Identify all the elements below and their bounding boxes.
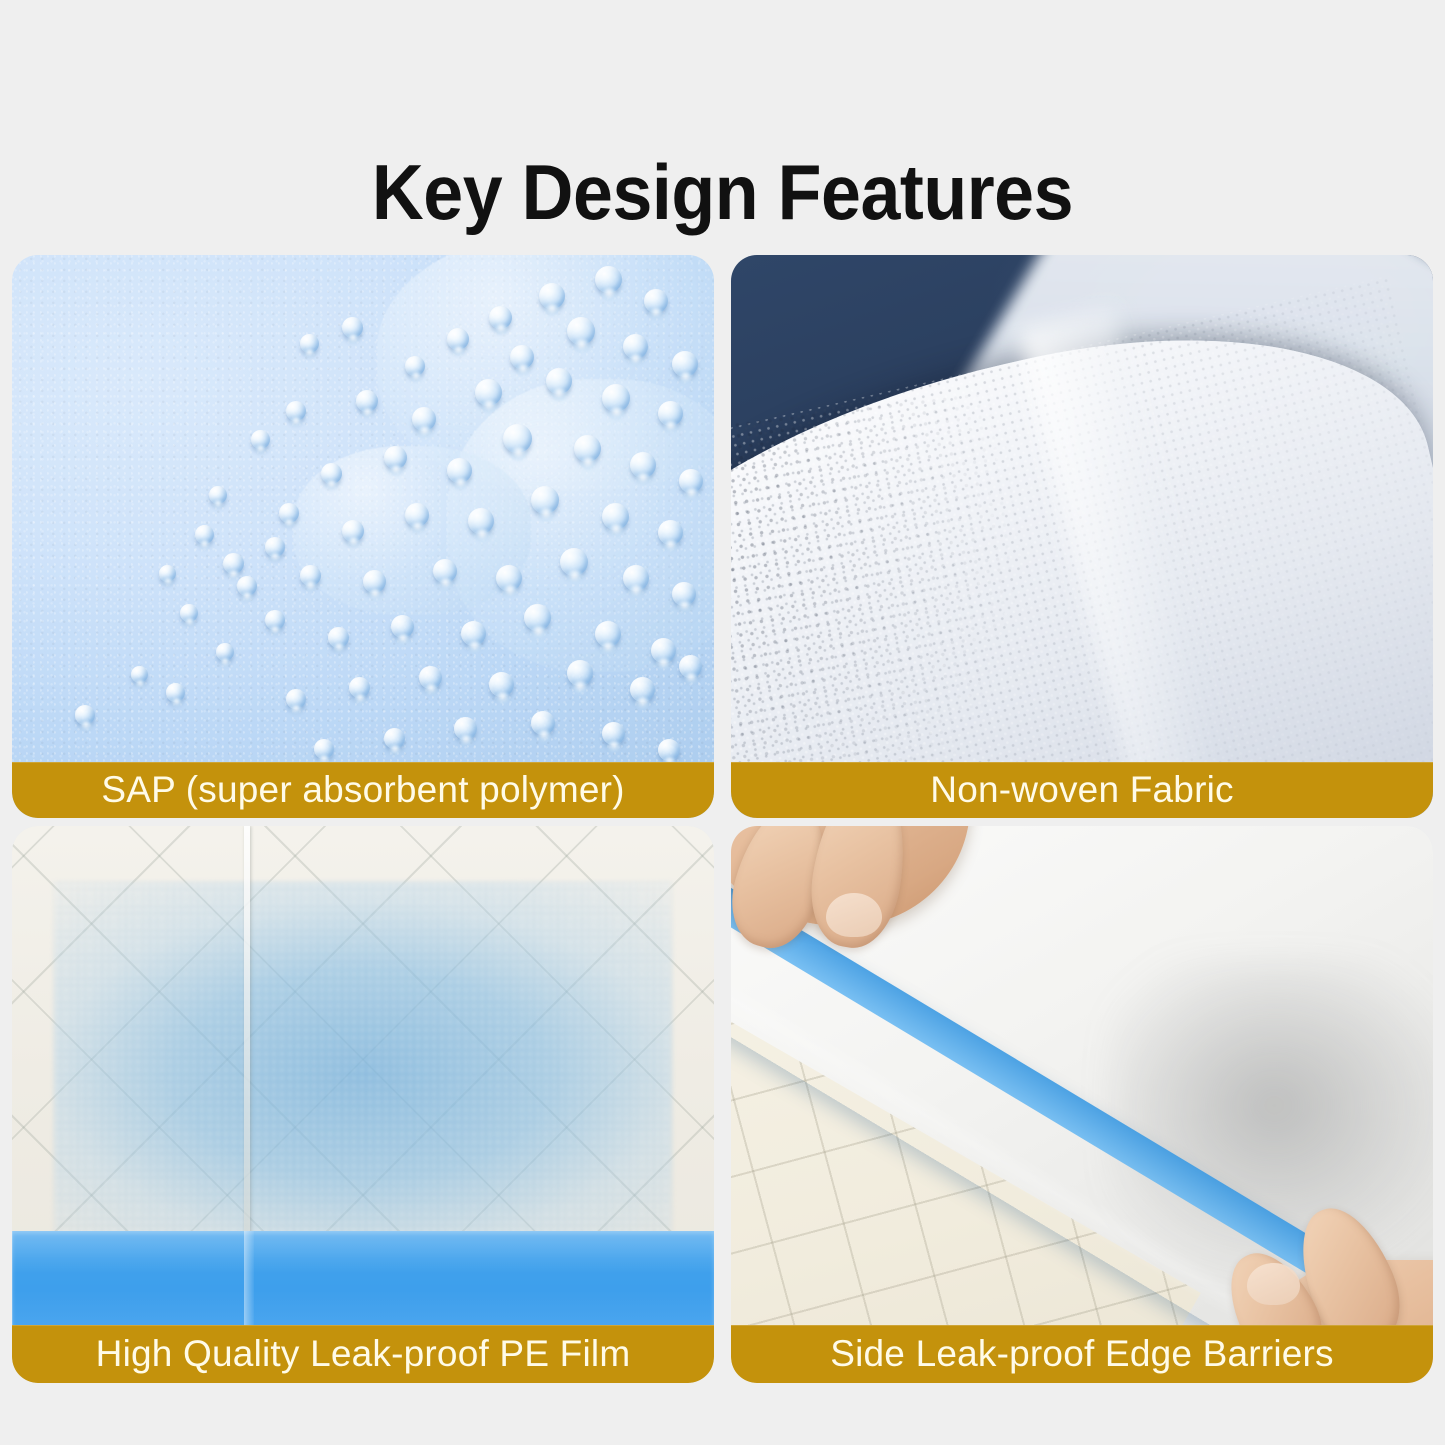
fingernail-top-left [826, 893, 882, 938]
pe-absorbent-core [54, 882, 672, 1283]
key-design-features-page: Key Design Features [0, 0, 1445, 1445]
pe-film-photo [12, 826, 714, 1383]
caption-pe-film: High Quality Leak-proof PE Film [12, 1325, 714, 1383]
caption-sap: SAP (super absorbent polymer) [12, 762, 714, 818]
feature-card-sap: SAP (super absorbent polymer) [12, 255, 714, 818]
sap-bead-field [12, 255, 714, 818]
fingernail-bottom-right [1247, 1263, 1300, 1305]
caption-non-woven-fabric: Non-woven Fabric [731, 762, 1433, 818]
caption-edge-barriers: Side Leak-proof Edge Barriers [731, 1325, 1433, 1383]
feature-card-non-woven-fabric: Non-woven Fabric [731, 255, 1433, 818]
pe-film-strip [12, 1231, 714, 1327]
sap-photo [12, 255, 714, 818]
feature-card-pe-film: High Quality Leak-proof PE Film [12, 826, 714, 1383]
non-woven-fabric-photo [731, 255, 1433, 818]
pe-film-crease [244, 1231, 254, 1327]
pe-pad-seam [244, 826, 250, 1271]
feature-grid: SAP (super absorbent polymer) Non-woven … [12, 255, 1433, 1383]
edge-barriers-photo [731, 826, 1433, 1383]
page-title: Key Design Features [58, 147, 1387, 237]
feature-card-edge-barriers: Side Leak-proof Edge Barriers [731, 826, 1433, 1383]
